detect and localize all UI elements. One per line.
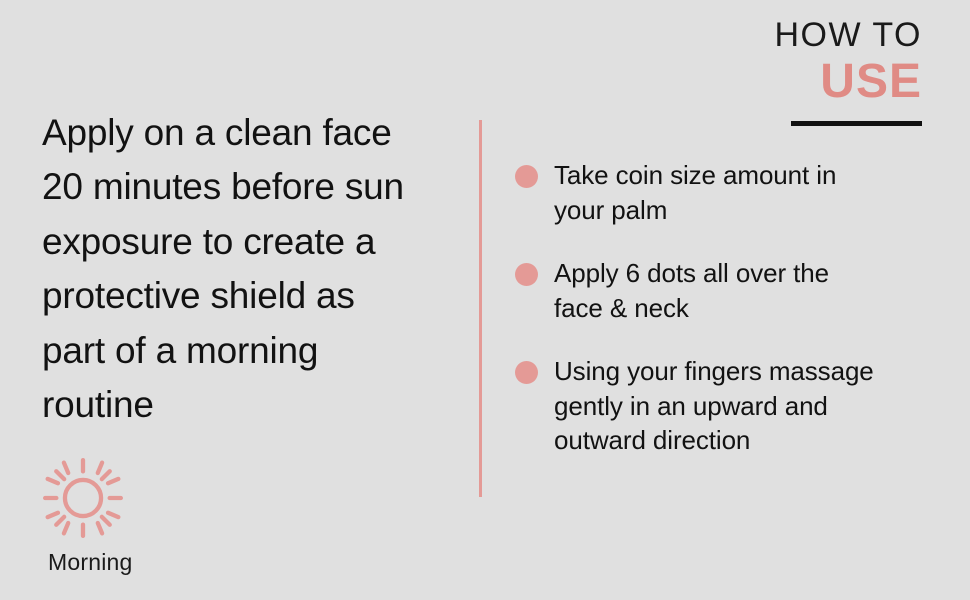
morning-block: Morning <box>40 455 133 576</box>
morning-label: Morning <box>48 549 133 576</box>
header-line-how-to: HOW TO <box>774 18 922 54</box>
left-column: Apply on a clean face 20 minutes before … <box>42 106 457 432</box>
header-underline-rule <box>791 121 922 126</box>
steps-list: Take coin size amount in your palm Apply… <box>515 158 945 458</box>
vertical-divider <box>479 120 482 497</box>
list-item-label: Apply 6 dots all over the face & neck <box>554 256 829 325</box>
list-item-label: Using your fingers massage gently in an … <box>554 354 874 458</box>
how-to-use-poster: HOW TO USE Apply on a clean face 20 minu… <box>0 0 970 600</box>
list-item: Take coin size amount in your palm <box>515 158 945 227</box>
header-block: HOW TO USE <box>774 18 922 126</box>
bullet-dot-icon <box>515 263 538 286</box>
list-item: Using your fingers massage gently in an … <box>515 354 945 458</box>
list-item: Apply 6 dots all over the face & neck <box>515 256 945 325</box>
bullet-dot-icon <box>515 165 538 188</box>
header-line-use: USE <box>774 56 922 109</box>
instructions-paragraph: Apply on a clean face 20 minutes before … <box>42 106 457 432</box>
sun-icon <box>40 455 126 541</box>
list-item-label: Take coin size amount in your palm <box>554 158 836 227</box>
bullet-dot-icon <box>515 361 538 384</box>
